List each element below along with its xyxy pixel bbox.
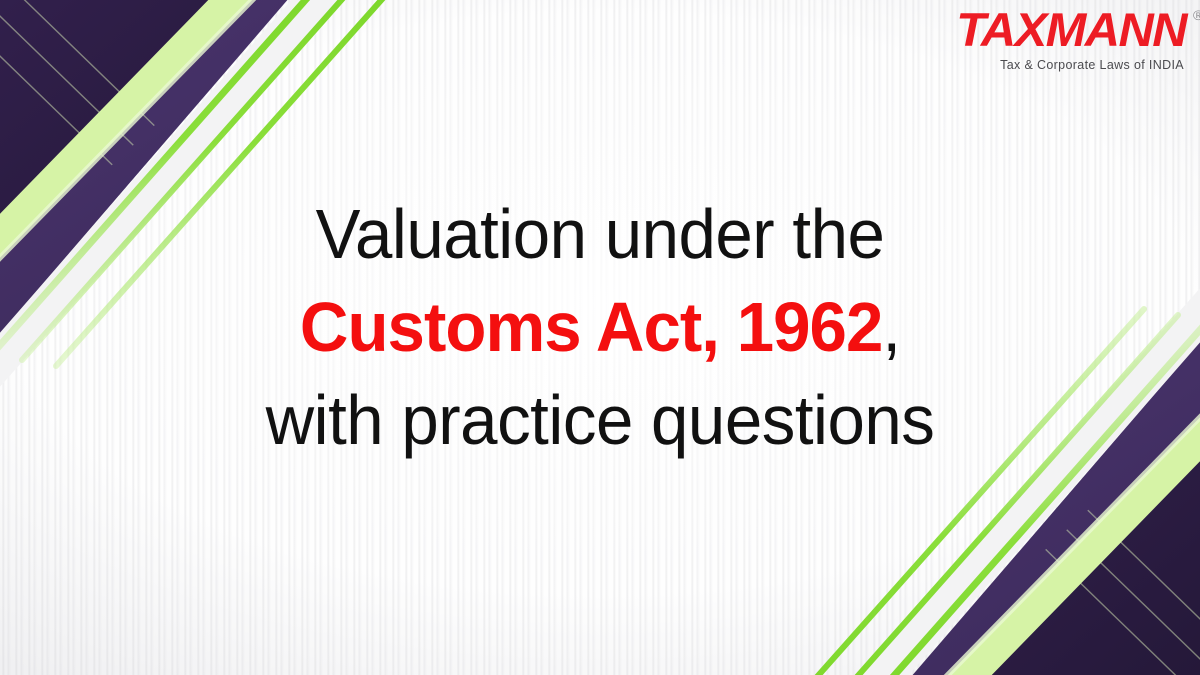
- slide-canvas: TAXMANN® Tax & Corporate Laws of INDIA V…: [0, 0, 1200, 675]
- logo-wordmark: TAXMANN®: [956, 6, 1186, 53]
- logo-brand-text: TAXMANN: [956, 3, 1186, 56]
- taxmann-logo: TAXMANN® Tax & Corporate Laws of INDIA: [965, 6, 1186, 72]
- title-line-2: Customs Act, 1962,: [62, 281, 1137, 374]
- title-highlight-act: Customs Act, 1962: [300, 288, 882, 366]
- title-line-2-suffix: ,: [882, 288, 900, 366]
- title-line-3: with practice questions: [62, 374, 1137, 467]
- page-title: Valuation under the Customs Act, 1962, w…: [0, 188, 1200, 467]
- registered-trademark-icon: ®: [1193, 8, 1200, 22]
- title-line-1: Valuation under the: [62, 188, 1137, 281]
- logo-tagline: Tax & Corporate Laws of INDIA: [965, 59, 1184, 72]
